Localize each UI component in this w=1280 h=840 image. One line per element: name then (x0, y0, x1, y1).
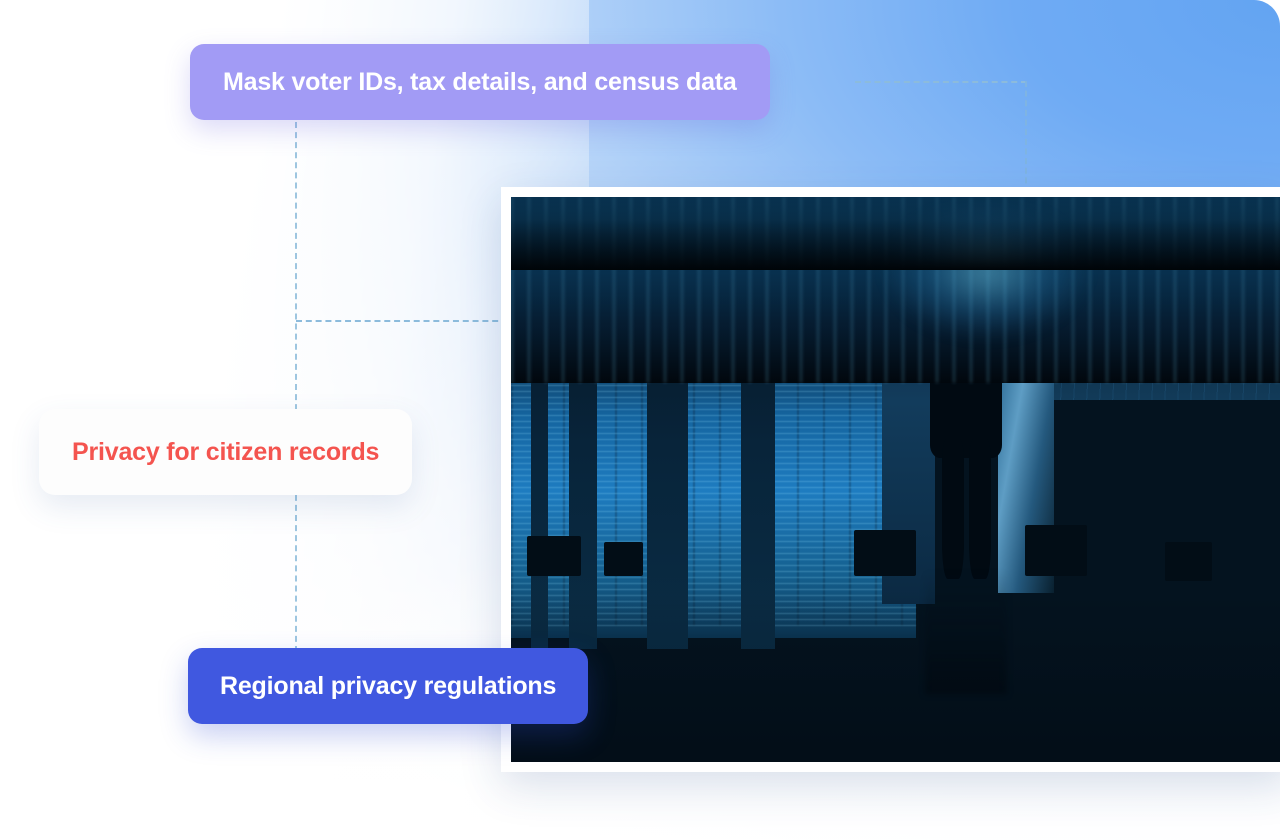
badge-privacy-citizen-records[interactable]: Privacy for citizen records (39, 409, 412, 495)
lobby-photo (511, 197, 1280, 762)
hero-composition: Mask voter IDs, tax details, and census … (0, 0, 1280, 840)
badge-mask-ids[interactable]: Mask voter IDs, tax details, and census … (190, 44, 770, 120)
photo-tone-overlay (511, 197, 1280, 762)
badge-regional-privacy[interactable]: Regional privacy regulations (188, 648, 588, 724)
photo-card (501, 187, 1280, 772)
